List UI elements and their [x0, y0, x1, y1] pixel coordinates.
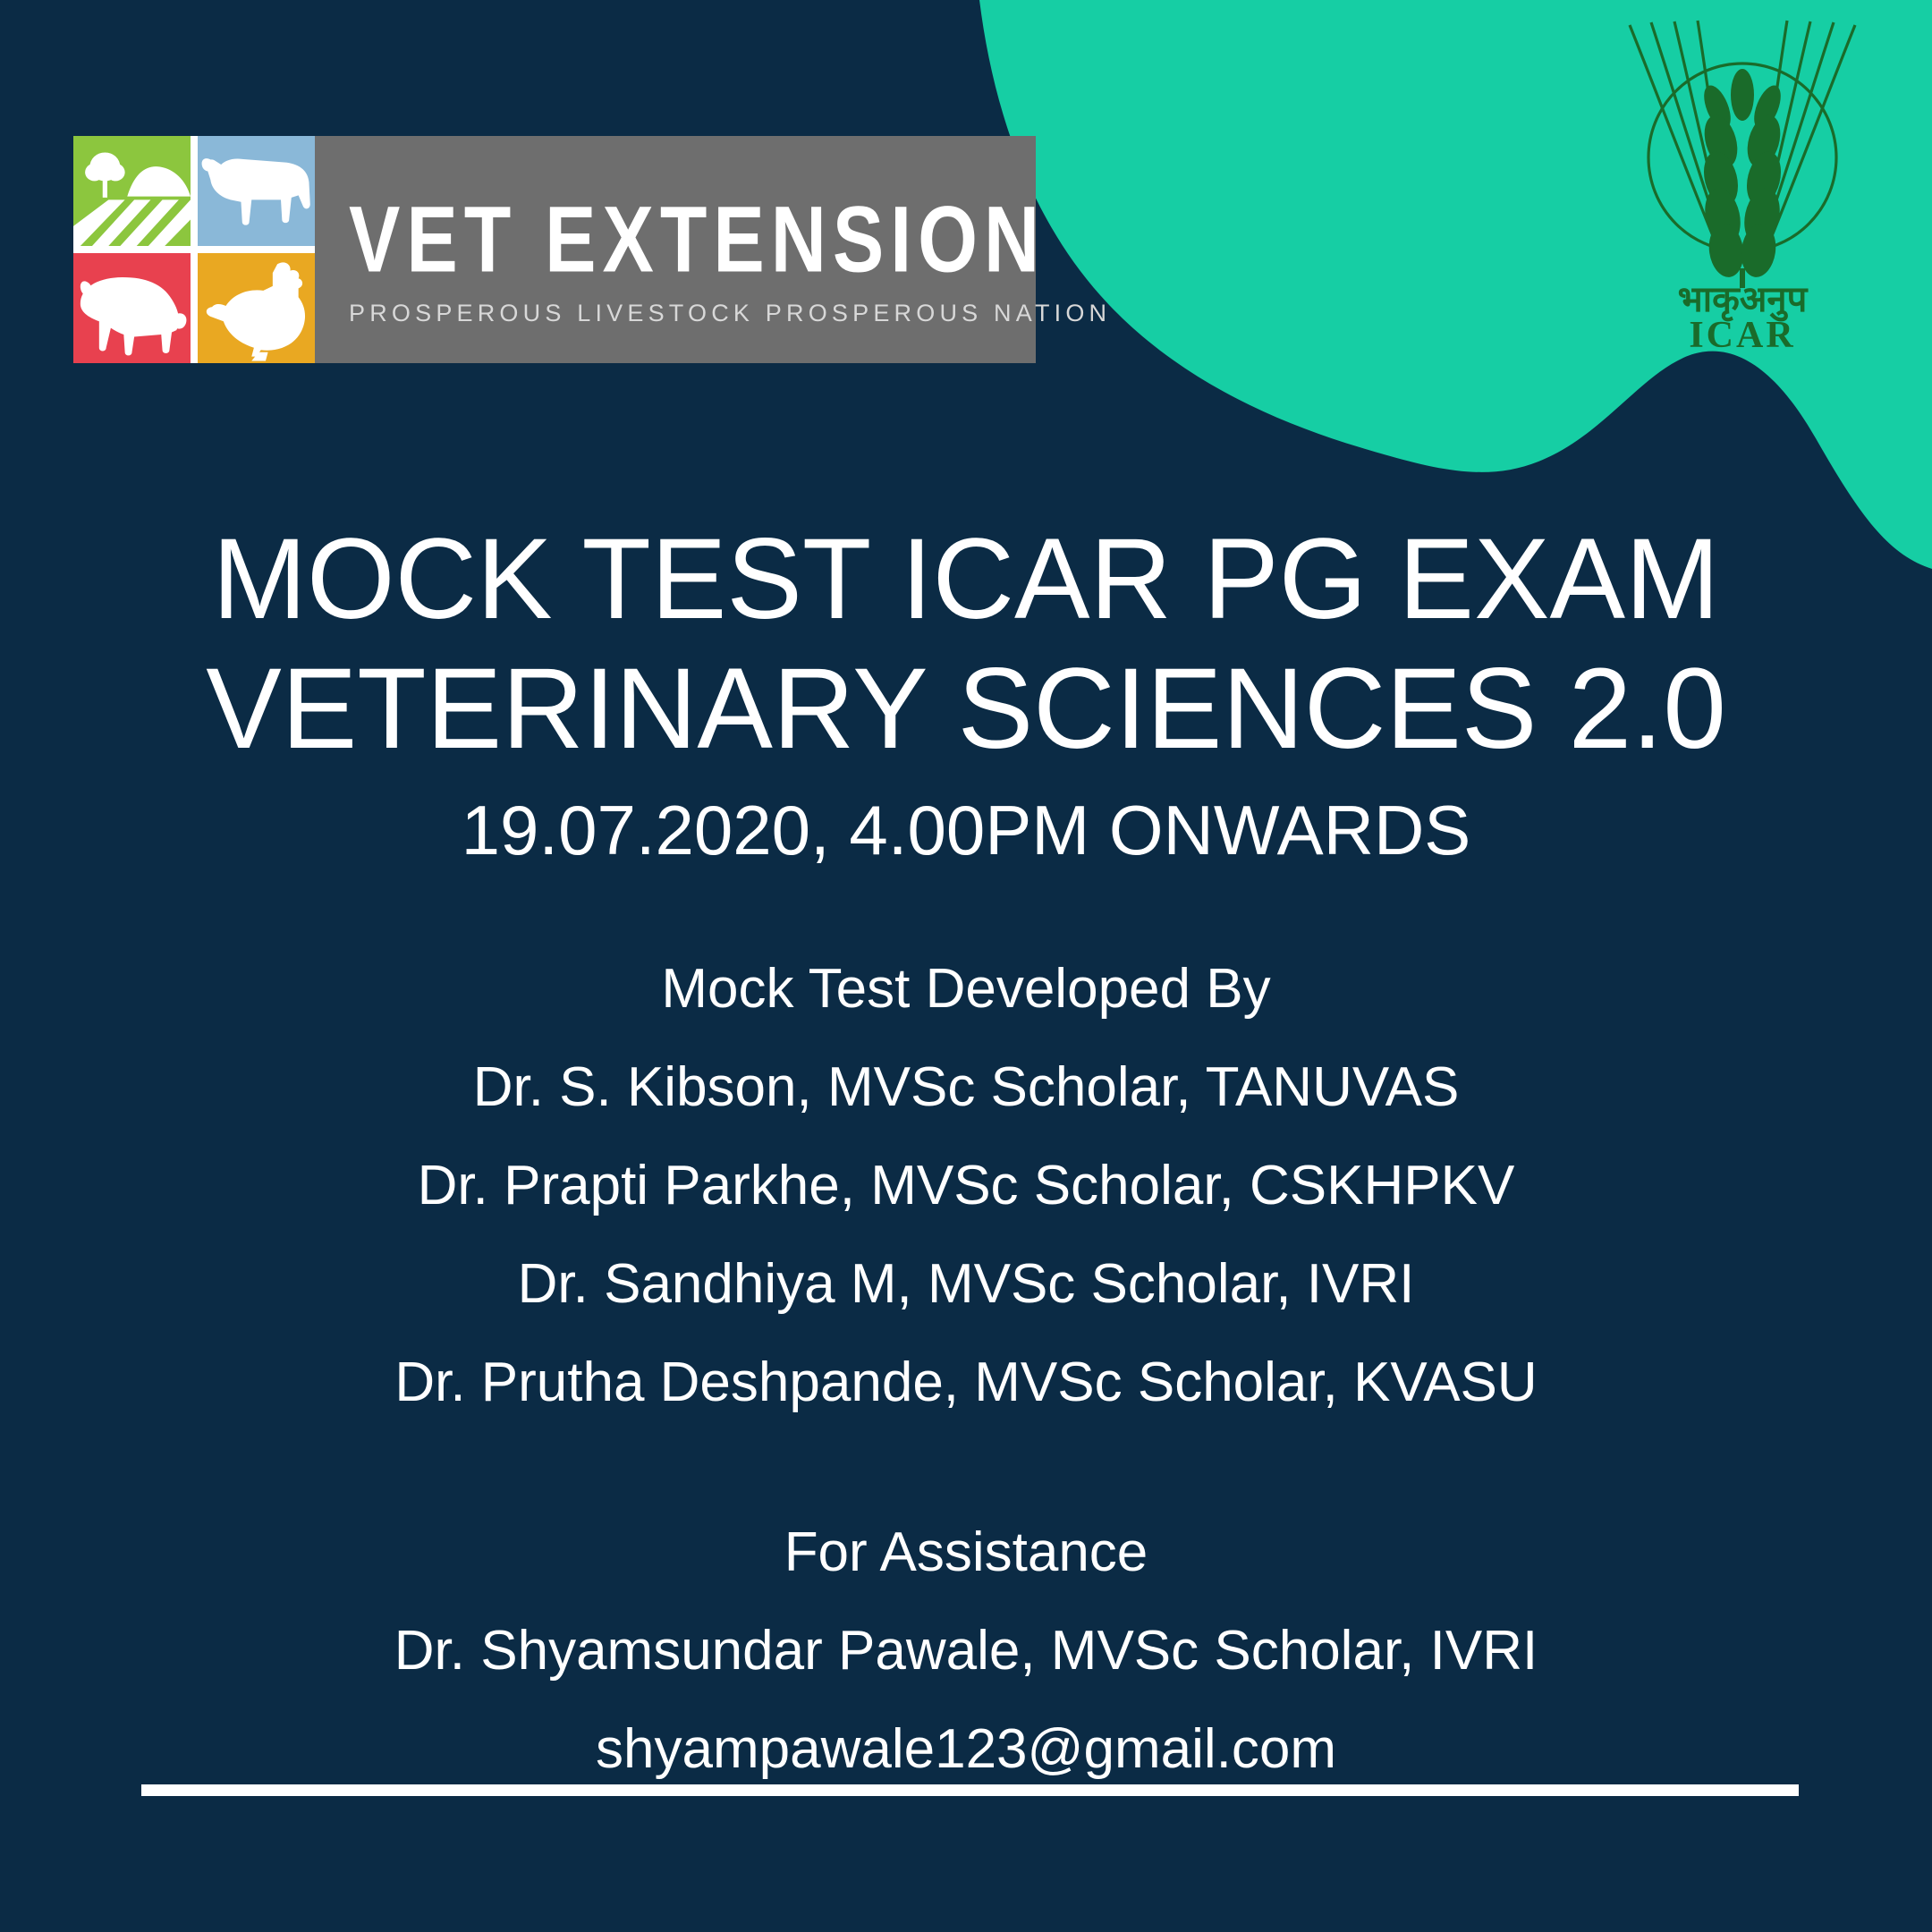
assistance-section: For Assistance Dr. Shyamsundar Pawale, M…	[0, 1525, 1932, 1820]
logo-tile-grid	[73, 136, 315, 363]
credit-developer-2: Dr. Prapti Parkhe, MVSc Scholar, CSKHPKV	[0, 1158, 1932, 1214]
page-title-line-2: VETERINARY SCIENCES 2.0	[10, 653, 1922, 765]
logo-tagline: PROSPEROUS LIVESTOCK PROSPEROUS NATION	[349, 301, 1036, 326]
logo-tile-poultry	[198, 253, 315, 363]
logo-tile-cattle	[198, 136, 315, 246]
event-datetime: 19.07.2020, 4.00PM ONWARDS	[0, 796, 1932, 864]
credit-developer-1: Dr. S. Kibson, MVSc Scholar, TANUVAS	[0, 1060, 1932, 1115]
tree-field-icon	[73, 136, 191, 246]
credits-section: Mock Test Developed By Dr. S. Kibson, MV…	[0, 962, 1932, 1453]
pig-icon	[73, 253, 191, 363]
logo-wordmark-panel: VET EXTENSION PROSPEROUS LIVESTOCK PROSP…	[315, 136, 1036, 363]
icar-logo: भाकृअनुप ICAR	[1608, 7, 1877, 356]
credits-heading: Mock Test Developed By	[0, 962, 1932, 1017]
assistance-contact-name: Dr. Shyamsundar Pawale, MVSc Scholar, IV…	[0, 1623, 1932, 1679]
icar-english-label: ICAR	[1689, 315, 1795, 356]
footer-divider	[141, 1784, 1799, 1796]
credit-developer-3: Dr. Sandhiya M, MVSc Scholar, IVRI	[0, 1257, 1932, 1312]
logo-tile-farm-field	[73, 136, 191, 246]
vet-extension-logo: VET EXTENSION PROSPEROUS LIVESTOCK PROSP…	[73, 136, 1036, 363]
cow-icon	[198, 136, 315, 246]
assistance-contact-email[interactable]: shyampawale123@gmail.com	[0, 1722, 1932, 1777]
page-title-line-1: MOCK TEST ICAR PG EXAM	[10, 523, 1922, 635]
credit-developer-4: Dr. Prutha Deshpande, MVSc Scholar, KVAS…	[0, 1355, 1932, 1411]
poster-canvas: VET EXTENSION PROSPEROUS LIVESTOCK PROSP…	[0, 0, 1932, 1932]
wheat-sheaf-icon: भाकृअनुप ICAR	[1608, 7, 1877, 356]
assistance-heading: For Assistance	[0, 1525, 1932, 1580]
chicken-icon	[198, 253, 315, 363]
logo-title: VET EXTENSION	[349, 192, 1036, 286]
logo-tile-swine	[73, 253, 191, 363]
